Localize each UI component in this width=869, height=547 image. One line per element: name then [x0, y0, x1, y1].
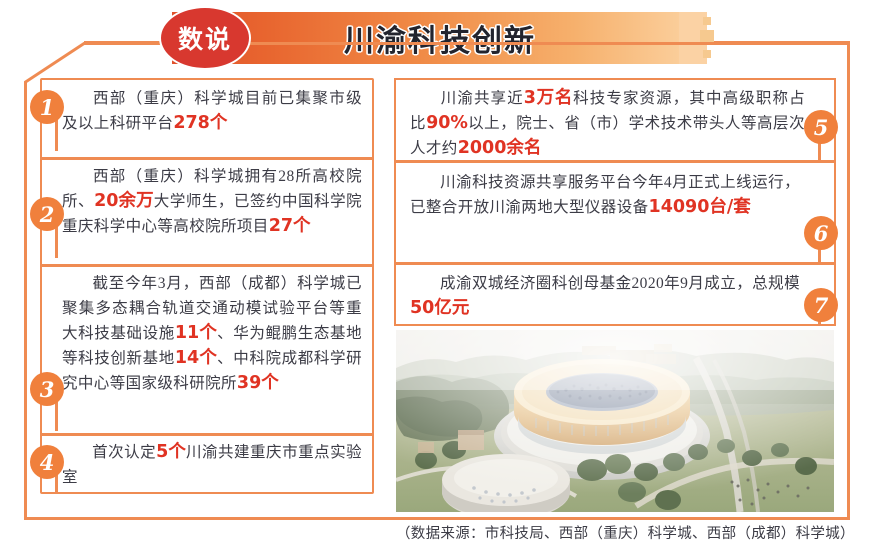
stat-badge-2: 2	[30, 197, 64, 231]
stat-2-highlight-0: 20余万	[94, 191, 154, 211]
infographic-page: 川渝科技创新 数说 西部（重庆）科学城目前已集聚市级及以上科研平台278个 1 …	[0, 0, 869, 547]
stat-4-highlight-0: 5个	[156, 442, 186, 462]
stat-badge-1: 1	[30, 90, 64, 124]
header-rule-right	[713, 41, 850, 44]
header-deco-square-mid	[700, 30, 714, 43]
left-divider-2	[40, 264, 374, 267]
stat-item-5-text: 川渝共享近3万名科技专家资源，其中高级职称占比90%以上，院士、省（市）学术技术…	[410, 86, 805, 161]
header-rule-left	[84, 41, 160, 44]
science-city-aerial-photo	[396, 330, 834, 512]
data-source-note: （数据来源：市科技局、西部（重庆）科学城、西部（成都）科学城）	[396, 522, 846, 544]
stat-item-6-text: 川渝科技资源共享服务平台今年4月正式上线运行，已整合开放川渝两地大型仪器设备14…	[410, 170, 800, 220]
stat-1-highlight-0: 278个	[173, 113, 227, 133]
stat-3-highlight-1: 14个	[175, 348, 217, 368]
header: 川渝科技创新 数说	[0, 0, 869, 78]
stat-item-2-text: 西部（重庆）科学城拥有28所高校院所、20余万大学师生，已签约中国科学院重庆科学…	[62, 164, 362, 239]
stat-badge-4: 4	[30, 445, 64, 479]
left-divider-3	[40, 433, 374, 436]
stat-badge-3: 3	[30, 372, 64, 406]
stat-5-highlight-1: 90%	[426, 113, 468, 133]
stat-3-highlight-0: 11个	[175, 323, 217, 343]
stat-item-4-text: 首次认定5个川渝共建重庆市重点实验室	[62, 440, 362, 490]
stat-item-3-text: 截至今年3月，西部（成都）科学城已聚集多态耦合轨道交通动模试验平台等重大科技基础…	[62, 271, 362, 396]
stat-3-highlight-2: 39个	[237, 373, 279, 393]
header-deco-square-bottom	[703, 50, 711, 58]
stat-2-highlight-1: 27个	[269, 216, 311, 236]
stat-badge-6: 6	[804, 216, 838, 250]
left-divider-1	[40, 157, 374, 160]
stat-item-1-text: 西部（重庆）科学城目前已集聚市级及以上科研平台278个	[62, 86, 362, 136]
stat-4-run-0: 首次认定	[92, 444, 156, 461]
stat-item-7-text: 成渝双城经济圈科创母基金2020年9月成立，总规模50亿元	[410, 271, 800, 321]
stat-5-run-0: 川渝共享近	[440, 90, 524, 107]
header-deco-square-top	[703, 17, 711, 25]
stat-badge-7: 7	[804, 288, 838, 322]
stat-5-highlight-0: 3万名	[524, 88, 573, 108]
stat-7-highlight-0: 50亿元	[410, 298, 469, 318]
header-tag-badge: 数说	[159, 6, 251, 70]
stat-badge-5: 5	[804, 110, 838, 144]
stat-6-highlight-0: 14090台/套	[649, 197, 751, 217]
right-divider-2	[394, 262, 836, 265]
stat-5-highlight-2: 2000余名	[458, 138, 542, 158]
stat-7-run-0: 成渝双城经济圈科创母基金2020年9月成立，总规模	[440, 275, 800, 292]
